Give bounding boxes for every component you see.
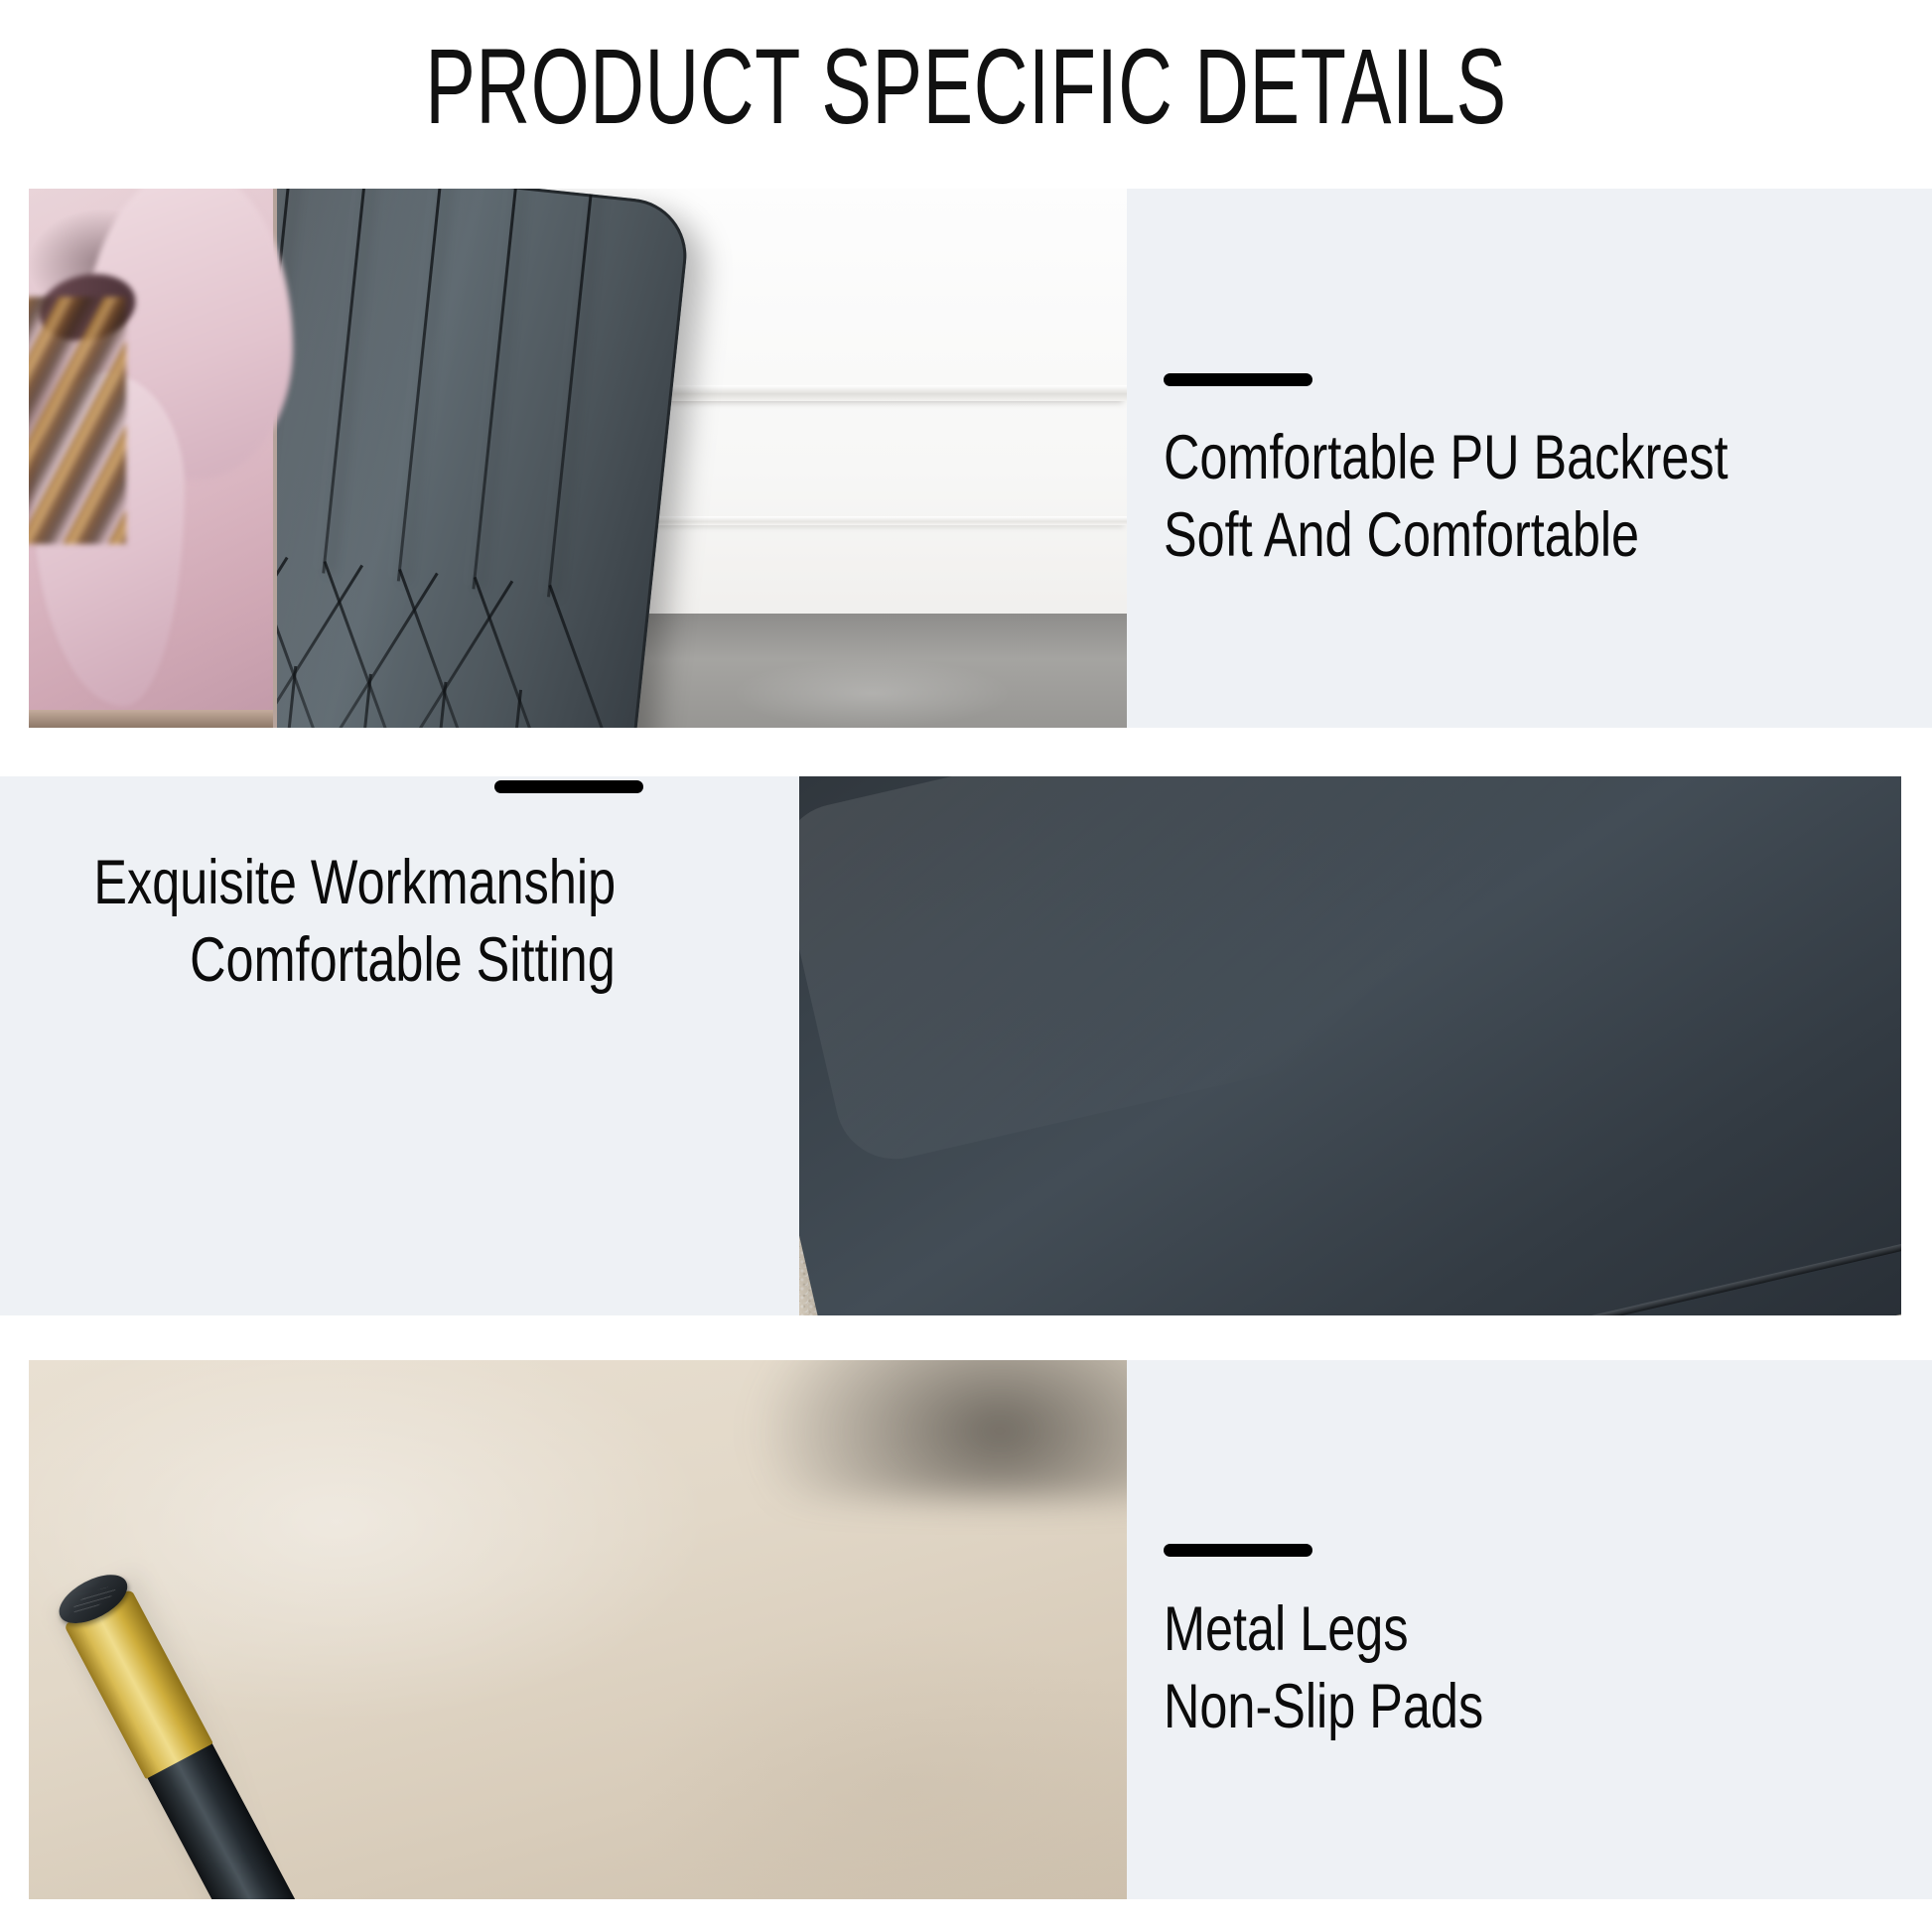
chair-backrest-photo <box>29 189 1127 728</box>
chair-seat-photo <box>799 776 1901 1315</box>
feature-caption-line-2: Soft And Comfortable <box>1164 496 1639 574</box>
divider-dash <box>494 780 643 793</box>
artwork-gold-accent <box>29 297 126 545</box>
artwork-frame-base <box>29 710 273 728</box>
leather-highlight <box>799 776 1730 1171</box>
feature-panel-metal-legs: Metal Legs Non-Slip Pads <box>1127 1360 1932 1899</box>
feature-panel-workmanship: Exquisite Workmanship Comfortable Sittin… <box>0 776 799 1315</box>
chair-seat-cushion <box>799 776 1901 1315</box>
backrest-chevron-seam <box>548 585 621 728</box>
metal-leg-photo <box>29 1360 1127 1899</box>
feature-caption-line-1: Comfortable PU Backrest <box>1164 419 1728 496</box>
framed-artwork <box>29 189 277 728</box>
divider-dash <box>1164 1544 1312 1557</box>
feature-caption-line-2: Comfortable Sitting <box>190 921 616 999</box>
feature-caption-line-1: Metal Legs <box>1164 1590 1409 1668</box>
page-title: PRODUCT SPECIFIC DETAILS <box>290 28 1642 145</box>
feature-caption-line-2: Non-Slip Pads <box>1164 1668 1483 1745</box>
feature-caption-line-1: Exquisite Workmanship <box>93 844 616 921</box>
seat-piping-seam <box>857 1194 1901 1315</box>
floor-shadow <box>750 1360 1127 1499</box>
feature-panel-backrest: Comfortable PU Backrest Soft And Comfort… <box>1127 189 1932 728</box>
backrest-seam <box>547 189 594 597</box>
backrest-seam <box>500 690 522 728</box>
divider-dash <box>1164 373 1312 386</box>
